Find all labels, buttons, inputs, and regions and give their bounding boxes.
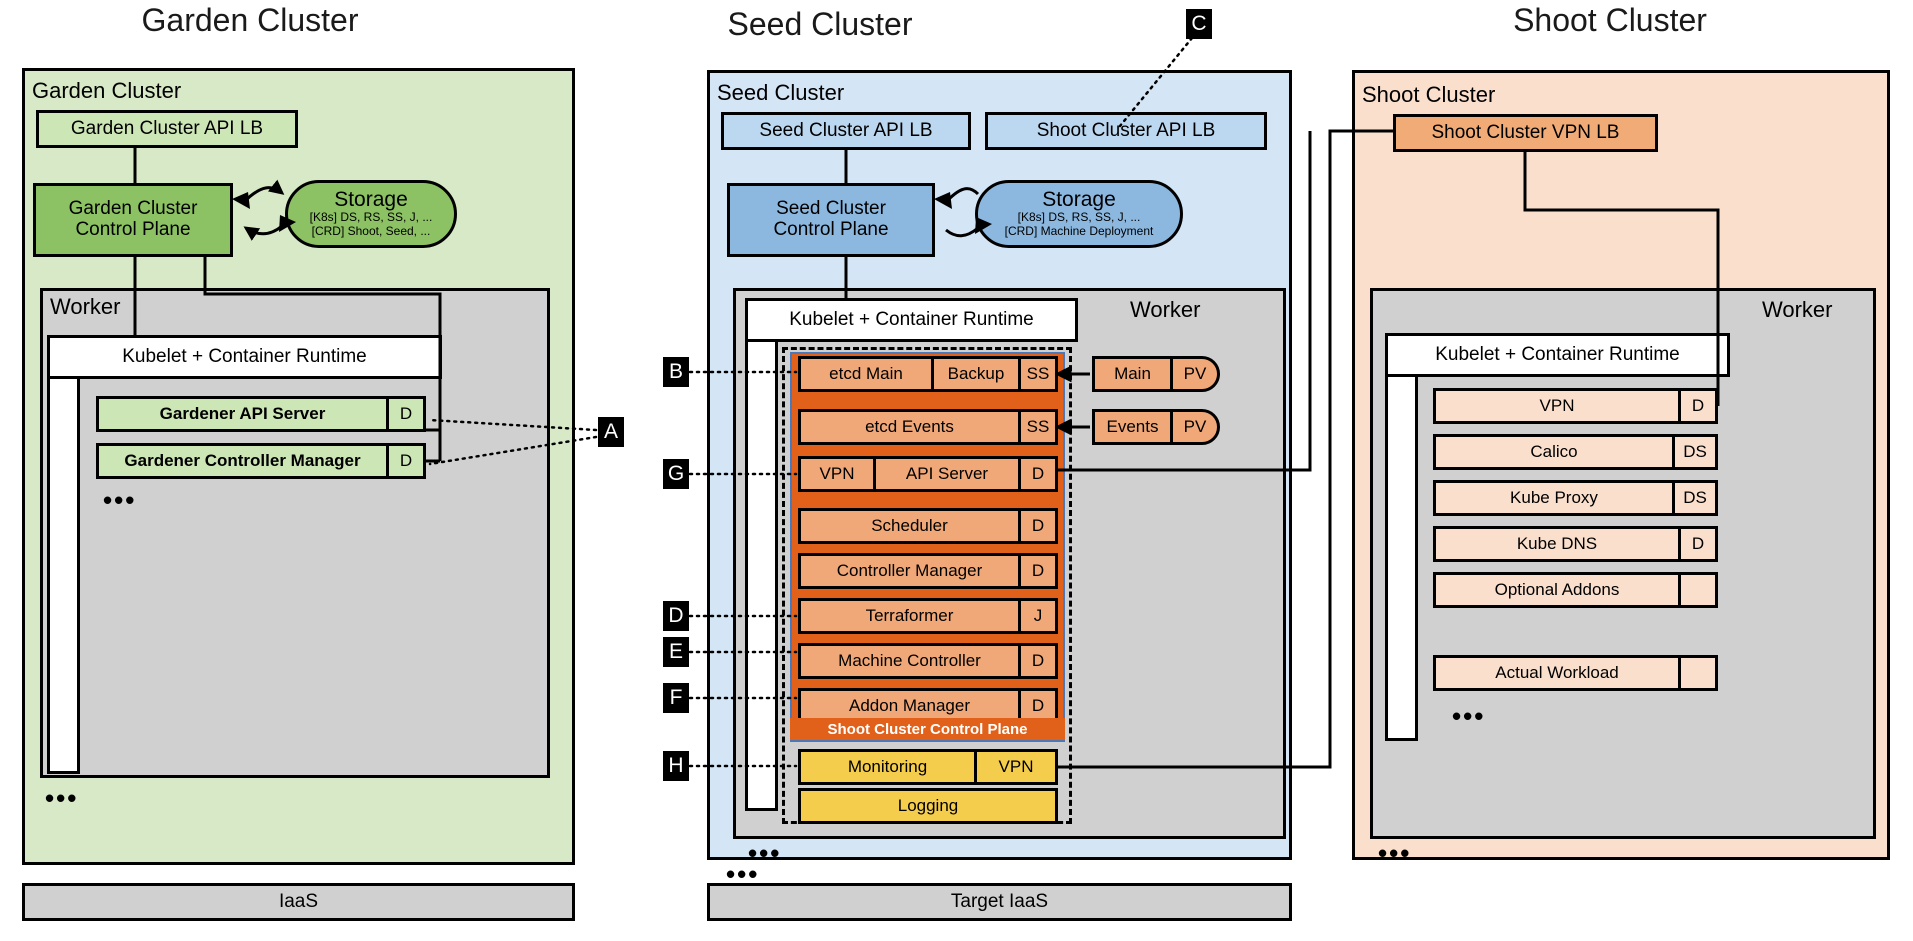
marker-a: A	[598, 417, 624, 447]
component-kind: J	[1018, 601, 1055, 631]
seed-component-etcd-events[interactable]: etcd Events SS	[798, 409, 1058, 445]
seed-pv-events[interactable]: Events PV	[1092, 409, 1220, 445]
component-kind: DS	[1672, 437, 1715, 467]
component-name: Terraformer	[801, 601, 1018, 631]
component-name: Gardener Controller Manager	[99, 446, 386, 476]
seed-control-plane[interactable]: Seed Cluster Control Plane	[727, 183, 935, 257]
garden-components-ellipsis: •••	[103, 487, 136, 513]
component-name: Calico	[1436, 437, 1672, 467]
shoot-components-ellipsis: •••	[1452, 703, 1485, 729]
marker-g: G	[663, 459, 689, 489]
seed-iaas-bar: Target IaaS	[707, 883, 1292, 921]
shoot-component-actual-workload[interactable]: Actual Workload	[1433, 655, 1718, 691]
shoot-component-optional-addons[interactable]: Optional Addons	[1433, 572, 1718, 608]
shoot-component-kube-dns[interactable]: Kube DNS D	[1433, 526, 1718, 562]
marker-f: F	[663, 683, 689, 713]
seed-storage-line2: [CRD] Machine Deployment	[1005, 225, 1154, 239]
seed-api-lb[interactable]: Seed Cluster API LB	[721, 112, 971, 150]
garden-worker-ellipsis: •••	[45, 785, 78, 811]
shoot-worker-label: Worker	[1762, 297, 1833, 323]
marker-d: D	[663, 601, 689, 631]
page-title-garden: Garden Cluster	[50, 2, 450, 39]
seed-observability-logging[interactable]: Logging	[798, 788, 1058, 824]
page-title-seed: Seed Cluster	[660, 6, 980, 43]
garden-worker-label: Worker	[50, 294, 121, 320]
component-kind: D	[1018, 511, 1055, 541]
component-kind: D	[1678, 529, 1715, 559]
seed-kubelet: Kubelet + Container Runtime	[745, 298, 1078, 342]
seed-storage-title: Storage	[1042, 189, 1116, 211]
pv-name: Main	[1095, 359, 1170, 389]
component-kind: DS	[1672, 483, 1715, 513]
garden-api-lb[interactable]: Garden Cluster API LB	[36, 110, 298, 148]
component-name: Machine Controller	[801, 646, 1018, 676]
seed-worker-label: Worker	[1130, 297, 1201, 323]
garden-pod-area	[47, 379, 80, 774]
shoot-component-kube-proxy[interactable]: Kube Proxy DS	[1433, 480, 1718, 516]
seed-component-terraformer[interactable]: Terraformer J	[798, 598, 1058, 634]
shoot-cluster-label: Shoot Cluster	[1362, 82, 1495, 108]
seed-component-controller-manager[interactable]: Controller Manager D	[798, 553, 1058, 589]
seed-component-api-server[interactable]: VPN API Server D	[798, 456, 1058, 492]
component-name: Controller Manager	[801, 556, 1018, 586]
seed-component-etcd-main[interactable]: etcd Main Backup SS	[798, 356, 1058, 392]
seed-pod-area	[745, 342, 778, 811]
component-name: Logging	[801, 791, 1055, 821]
garden-control-plane[interactable]: Garden Cluster Control Plane	[33, 183, 233, 257]
component-name: etcd Events	[801, 412, 1018, 442]
seed-control-plane-line1: Seed Cluster	[776, 199, 886, 220]
component-kind: D	[1018, 646, 1055, 676]
component-name: etcd Main	[801, 359, 931, 389]
component-kind: D	[1018, 459, 1055, 489]
seed-storage-line1: [K8s] DS, RS, SS, J, ...	[1018, 211, 1141, 225]
component-name: Gardener API Server	[99, 399, 386, 429]
component-kind	[1678, 575, 1715, 605]
seed-storage[interactable]: Storage [K8s] DS, RS, SS, J, ... [CRD] M…	[975, 180, 1183, 248]
component-name: VPN	[1436, 391, 1678, 421]
garden-iaas-bar: IaaS	[22, 883, 575, 921]
marker-h: H	[663, 751, 689, 781]
component-kind: D	[386, 446, 423, 476]
component-kind: D	[1018, 556, 1055, 586]
seed-control-plane-line2: Control Plane	[773, 220, 888, 241]
seed-component-scheduler[interactable]: Scheduler D	[798, 508, 1058, 544]
garden-storage[interactable]: Storage [K8s] DS, RS, SS, J, ... [CRD] S…	[285, 180, 457, 248]
shoot-component-vpn[interactable]: VPN D	[1433, 388, 1718, 424]
garden-component-api-server[interactable]: Gardener API Server D	[96, 396, 426, 432]
shoot-api-lb[interactable]: Shoot Cluster API LB	[985, 112, 1267, 150]
marker-b: B	[663, 357, 689, 387]
seed-cluster-label: Seed Cluster	[717, 80, 844, 106]
shoot-pod-area	[1385, 377, 1418, 741]
seed-pv-main[interactable]: Main PV	[1092, 356, 1220, 392]
component-name: Actual Workload	[1436, 658, 1678, 688]
pv-name: Events	[1095, 412, 1170, 442]
garden-component-controller-manager[interactable]: Gardener Controller Manager D	[96, 443, 426, 479]
component-mid: Backup	[931, 359, 1018, 389]
component-name: Kube Proxy	[1436, 483, 1672, 513]
shoot-kubelet: Kubelet + Container Runtime	[1385, 333, 1730, 377]
garden-storage-line2: [CRD] Shoot, Seed, ...	[312, 225, 431, 239]
component-mid: API Server	[873, 459, 1018, 489]
component-name: Monitoring	[801, 752, 974, 782]
shoot-component-calico[interactable]: Calico DS	[1433, 434, 1718, 470]
pv-kind: PV	[1170, 359, 1217, 389]
shoot-vpn-lb[interactable]: Shoot Cluster VPN LB	[1393, 114, 1658, 152]
seed-component-machine-controller[interactable]: Machine Controller D	[798, 643, 1058, 679]
component-kind: D	[1018, 691, 1055, 721]
component-name: VPN	[801, 459, 873, 489]
marker-e: E	[663, 637, 689, 667]
marker-c: C	[1186, 9, 1212, 39]
garden-control-plane-line1: Garden Cluster	[69, 199, 198, 220]
component-kind: D	[1678, 391, 1715, 421]
garden-kubelet: Kubelet + Container Runtime	[47, 335, 442, 379]
component-name: Optional Addons	[1436, 575, 1678, 605]
seed-control-plane-banner: Shoot Cluster Control Plane	[790, 718, 1065, 742]
page-title-shoot: Shoot Cluster	[1440, 2, 1780, 39]
garden-storage-title: Storage	[334, 189, 408, 211]
component-name: Addon Manager	[801, 691, 1018, 721]
component-kind: D	[386, 399, 423, 429]
seed-observability-monitoring[interactable]: Monitoring VPN	[798, 749, 1058, 785]
garden-storage-line1: [K8s] DS, RS, SS, J, ...	[310, 211, 433, 225]
component-name: Scheduler	[801, 511, 1018, 541]
pv-kind: PV	[1170, 412, 1217, 442]
component-kind	[1678, 658, 1715, 688]
garden-cluster-label: Garden Cluster	[32, 78, 181, 104]
component-name: Kube DNS	[1436, 529, 1678, 559]
component-mid: VPN	[974, 752, 1055, 782]
component-kind: SS	[1018, 359, 1055, 389]
shoot-worker-ellipsis: •••	[1378, 840, 1411, 866]
garden-control-plane-line2: Control Plane	[75, 220, 190, 241]
component-kind: SS	[1018, 412, 1055, 442]
